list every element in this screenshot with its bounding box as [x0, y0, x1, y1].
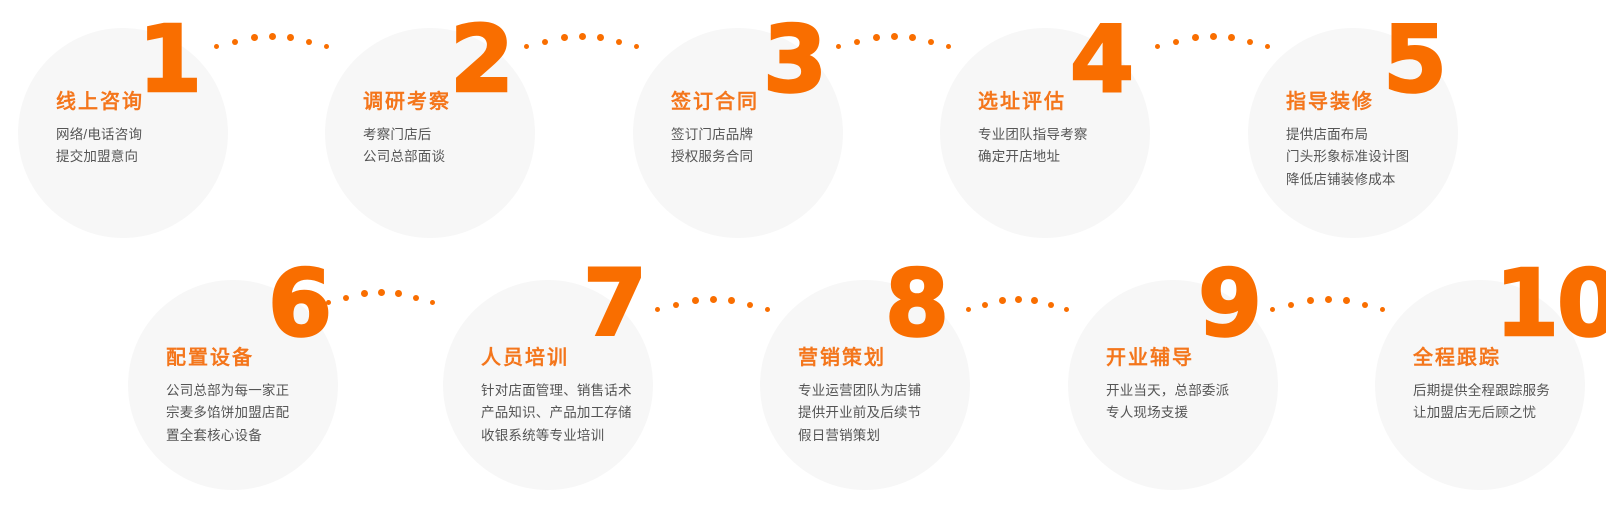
step-description-line: 公司总部为每一家正	[166, 380, 386, 402]
process-step-6: 6配置设备公司总部为每一家正宗麦多馅饼加盟店配置全套核心设备	[128, 280, 338, 490]
step-description-line: 后期提供全程跟踪服务	[1413, 380, 1606, 402]
connector-dot	[430, 300, 435, 305]
connector-dot	[378, 289, 385, 296]
connector-2-to-3	[524, 22, 642, 56]
step-description-line: 确定开店地址	[978, 146, 1198, 168]
connector-dot	[287, 34, 294, 41]
connector-dot	[1210, 33, 1217, 40]
step-number-7: 7	[583, 258, 645, 350]
step-description-line: 门头形象标准设计图	[1286, 146, 1506, 168]
step-description-2: 考察门店后公司总部面谈	[363, 124, 583, 169]
connector-dot	[928, 39, 934, 45]
step-number-4: 4	[1070, 14, 1132, 106]
step-description-line: 授权服务合同	[671, 146, 891, 168]
connector-dot	[747, 302, 753, 308]
franchise-process-infographic: 1线上咨询网络/电话咨询提交加盟意向2调研考察考察门店后公司总部面谈3签订合同签…	[0, 0, 1606, 508]
connector-dot	[1173, 39, 1179, 45]
connector-dot	[1343, 297, 1350, 304]
step-text-block-10: 全程跟踪后期提供全程跟踪服务让加盟店无后顾之忧	[1413, 346, 1606, 425]
step-description-line: 专业团队指导考察	[978, 124, 1198, 146]
process-step-1: 1线上咨询网络/电话咨询提交加盟意向	[18, 28, 228, 238]
step-description-7: 针对店面管理、销售话术产品知识、产品加工存储收银系统等专业培训	[481, 380, 701, 447]
step-number-2: 2	[450, 14, 512, 106]
connector-dot	[873, 34, 880, 41]
step-description-4: 专业团队指导考察确定开店地址	[978, 124, 1198, 169]
step-number-10: 10	[1495, 258, 1606, 350]
connector-dot	[692, 297, 699, 304]
process-step-7: 7人员培训针对店面管理、销售话术产品知识、产品加工存储收银系统等专业培训	[443, 280, 653, 490]
step-description-9: 开业当天，总部委派专人现场支援	[1106, 380, 1326, 425]
step-number-8: 8	[885, 258, 947, 350]
step-description-line: 假日营销策划	[798, 425, 1018, 447]
connector-dot	[1228, 34, 1235, 41]
step-description-line: 网络/电话咨询	[56, 124, 276, 146]
step-description-5: 提供店面布局门头形象标准设计图降低店铺装修成本	[1286, 124, 1506, 191]
connector-dot	[728, 297, 735, 304]
connector-dot	[655, 307, 660, 312]
connector-dot	[1031, 297, 1038, 304]
step-description-line: 专业运营团队为店铺	[798, 380, 1018, 402]
connector-dot	[710, 296, 717, 303]
connector-dot	[854, 39, 860, 45]
connector-dot	[999, 297, 1006, 304]
step-description-line: 收银系统等专业培训	[481, 425, 701, 447]
connector-dot	[891, 33, 898, 40]
step-description-line: 产品知识、产品加工存储	[481, 402, 701, 424]
step-description-line: 提交加盟意向	[56, 146, 276, 168]
connector-dot	[413, 295, 419, 301]
connector-dot	[579, 33, 586, 40]
connector-dot	[673, 302, 679, 308]
connector-dot	[616, 39, 622, 45]
connector-dot	[1192, 34, 1199, 41]
connector-dot	[1155, 44, 1160, 49]
step-description-line: 专人现场支援	[1106, 402, 1326, 424]
connector-dot	[1288, 302, 1294, 308]
step-text-block-9: 开业辅导开业当天，总部委派专人现场支援	[1106, 346, 1326, 425]
process-step-5: 5指导装修提供店面布局门头形象标准设计图降低店铺装修成本	[1248, 28, 1458, 238]
step-description-line: 考察门店后	[363, 124, 583, 146]
step-number-1: 1	[138, 14, 200, 106]
step-description-line: 置全套核心设备	[166, 425, 386, 447]
connector-dot	[982, 302, 988, 308]
step-description-line: 提供开业前及后续节	[798, 402, 1018, 424]
step-description-line: 开业当天，总部委派	[1106, 380, 1326, 402]
step-text-block-8: 营销策划专业运营团队为店铺提供开业前及后续节假日营销策划	[798, 346, 1018, 447]
step-number-3: 3	[763, 14, 825, 106]
connector-6-to-7	[326, 278, 438, 312]
step-description-10: 后期提供全程跟踪服务让加盟店无后顾之忧	[1413, 380, 1606, 425]
connector-dot	[269, 33, 276, 40]
connector-1-to-2	[214, 22, 332, 56]
process-step-9: 9开业辅导开业当天，总部委派专人现场支援	[1068, 280, 1278, 490]
connector-dot	[561, 34, 568, 41]
step-description-line: 公司总部面谈	[363, 146, 583, 168]
connector-dot	[232, 39, 238, 45]
process-step-8: 8营销策划专业运营团队为店铺提供开业前及后续节假日营销策划	[760, 280, 970, 490]
step-description-line: 针对店面管理、销售话术	[481, 380, 701, 402]
step-number-6: 6	[268, 258, 330, 350]
connector-dot	[1307, 297, 1314, 304]
connector-dot	[542, 39, 548, 45]
connector-9-to-10	[1270, 285, 1388, 319]
step-description-line: 让加盟店无后顾之忧	[1413, 402, 1606, 424]
step-description-3: 签订门店品牌授权服务合同	[671, 124, 891, 169]
connector-dot	[343, 295, 349, 301]
step-description-1: 网络/电话咨询提交加盟意向	[56, 124, 276, 169]
connector-dot	[909, 34, 916, 41]
step-text-block-6: 配置设备公司总部为每一家正宗麦多馅饼加盟店配置全套核心设备	[166, 346, 386, 447]
step-description-line: 宗麦多馅饼加盟店配	[166, 402, 386, 424]
connector-dot	[1325, 296, 1332, 303]
connector-dot	[306, 39, 312, 45]
connector-dot	[597, 34, 604, 41]
connector-dot	[395, 290, 402, 297]
step-number-9: 9	[1198, 258, 1260, 350]
connector-dot	[1048, 302, 1054, 308]
connector-7-to-8	[655, 285, 773, 319]
step-description-line: 降低店铺装修成本	[1286, 169, 1506, 191]
process-step-10: 10全程跟踪后期提供全程跟踪服务让加盟店无后顾之忧	[1375, 280, 1585, 490]
step-description-line: 签订门店品牌	[671, 124, 891, 146]
connector-dot	[251, 34, 258, 41]
step-description-line: 提供店面布局	[1286, 124, 1506, 146]
step-text-block-7: 人员培训针对店面管理、销售话术产品知识、产品加工存储收银系统等专业培训	[481, 346, 701, 447]
process-step-3: 3签订合同签订门店品牌授权服务合同	[633, 28, 843, 238]
connector-dot	[361, 290, 368, 297]
step-description-6: 公司总部为每一家正宗麦多馅饼加盟店配置全套核心设备	[166, 380, 386, 447]
connector-8-to-9	[966, 285, 1072, 319]
connector-3-to-4	[836, 22, 954, 56]
process-step-4: 4选址评估专业团队指导考察确定开店地址	[940, 28, 1150, 238]
connector-dot	[1015, 296, 1022, 303]
process-step-2: 2调研考察考察门店后公司总部面谈	[325, 28, 535, 238]
step-number-5: 5	[1383, 14, 1445, 106]
connector-dot	[1362, 302, 1368, 308]
step-description-8: 专业运营团队为店铺提供开业前及后续节假日营销策划	[798, 380, 1018, 447]
